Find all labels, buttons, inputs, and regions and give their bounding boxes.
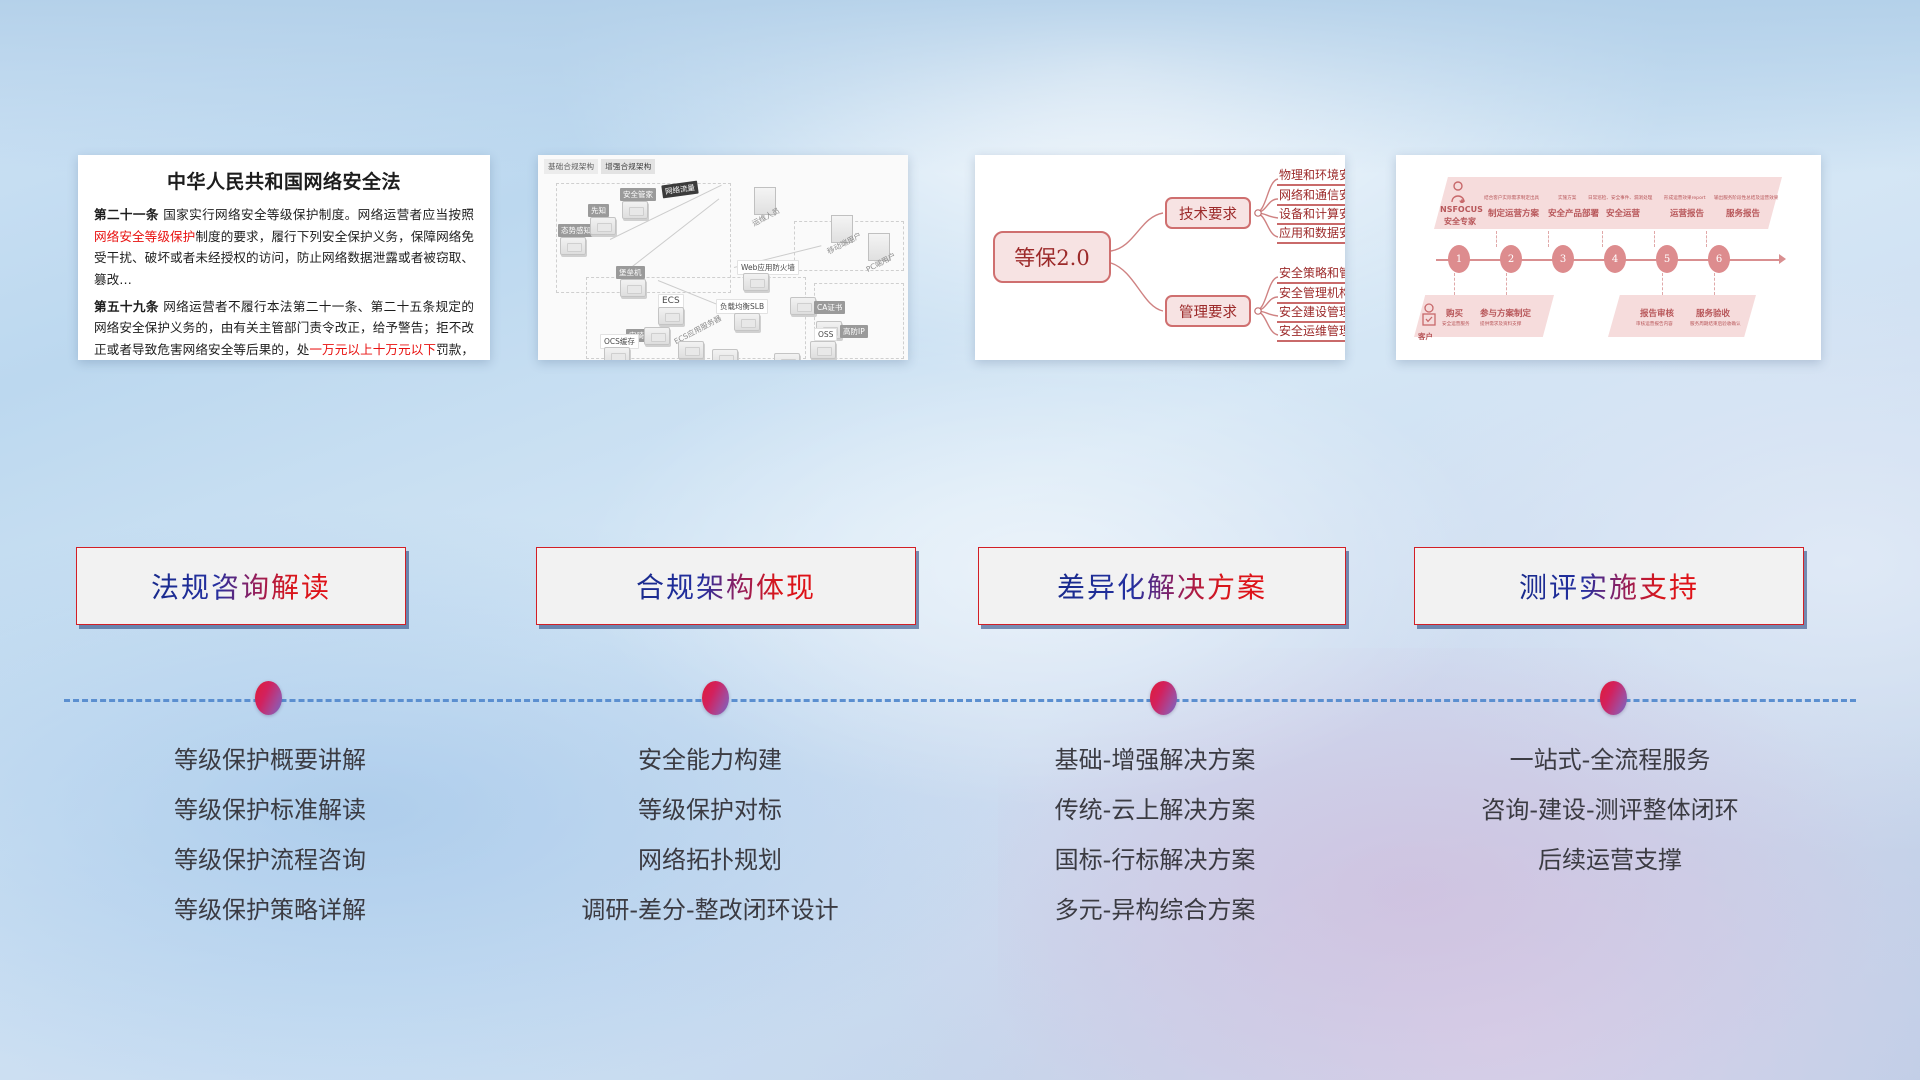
timeline-dot-1[interactable] xyxy=(255,681,282,715)
title-label: 测评实施支持 xyxy=(1519,566,1699,606)
title-label: 差异化解决方案 xyxy=(1057,566,1267,606)
list-item: 等级保护概要讲解 xyxy=(60,735,480,785)
list-item: 基础-增强解决方案 xyxy=(945,735,1365,785)
list-item: 一站式-全流程服务 xyxy=(1390,735,1830,785)
detail-column-architecture: 安全能力构建 等级保护对标 网络拓扑规划 调研-差分-整改闭环设计 xyxy=(500,735,920,935)
title-box-regulation-consulting[interactable]: 法规咨询解读 xyxy=(76,547,406,625)
list-item: 等级保护流程咨询 xyxy=(60,835,480,885)
list-item: 等级保护标准解读 xyxy=(60,785,480,835)
timeline-connector xyxy=(0,690,1920,710)
list-item: 国标-行标解决方案 xyxy=(945,835,1365,885)
list-item: 传统-云上解决方案 xyxy=(945,785,1365,835)
title-box-assessment-support[interactable]: 测评实施支持 xyxy=(1414,547,1804,625)
list-item: 网络拓扑规划 xyxy=(500,835,920,885)
timeline-dot-2[interactable] xyxy=(702,681,729,715)
timeline-dot-3[interactable] xyxy=(1150,681,1177,715)
timeline-dashed-line xyxy=(64,699,1856,702)
list-item: 咨询-建设-测评整体闭环 xyxy=(1390,785,1830,835)
list-item: 多元-异构综合方案 xyxy=(945,885,1365,935)
list-item: 安全能力构建 xyxy=(500,735,920,785)
title-box-compliance-architecture[interactable]: 合规架构体现 xyxy=(536,547,916,625)
title-label: 合规架构体现 xyxy=(636,566,816,606)
title-label: 法规咨询解读 xyxy=(151,566,331,606)
list-item: 后续运营支撑 xyxy=(1390,835,1830,885)
list-item: 等级保护策略详解 xyxy=(60,885,480,935)
detail-column-regulation: 等级保护概要讲解 等级保护标准解读 等级保护流程咨询 等级保护策略详解 xyxy=(60,735,480,935)
list-item: 等级保护对标 xyxy=(500,785,920,835)
list-item: 调研-差分-整改闭环设计 xyxy=(500,885,920,935)
detail-column-solution: 基础-增强解决方案 传统-云上解决方案 国标-行标解决方案 多元-异构综合方案 xyxy=(945,735,1365,935)
timeline-dot-4[interactable] xyxy=(1600,681,1627,715)
title-box-differentiated-solution[interactable]: 差异化解决方案 xyxy=(978,547,1346,625)
detail-column-assessment: 一站式-全流程服务 咨询-建设-测评整体闭环 后续运营支撑 xyxy=(1390,735,1830,885)
